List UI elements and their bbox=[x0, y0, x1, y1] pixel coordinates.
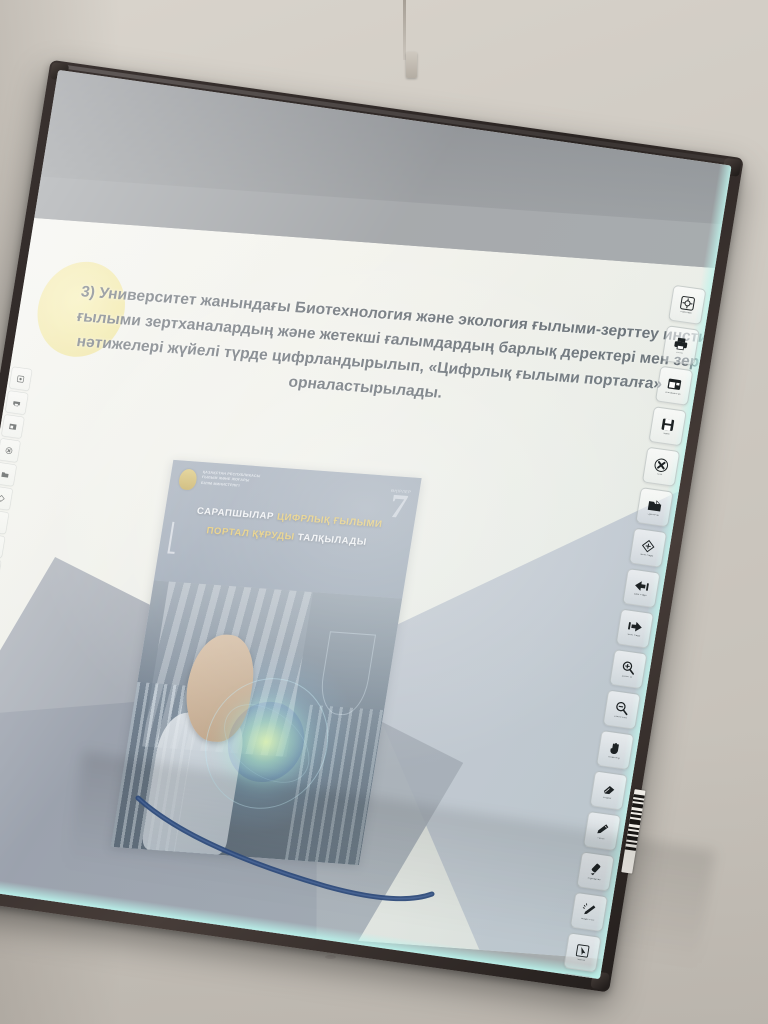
ministry-branding: ҚАЗАҚСТАН РЕСПУБЛИКАСЫ ҒЫЛЫМ ЖӘНЕ ЖОҒАРЫ… bbox=[178, 468, 261, 495]
news-headline: САРАПШЫЛАР ЦИФРЛЫҚ ҒЫЛЫМИ ПОРТАЛ ҚҰРУДЫ … bbox=[161, 499, 415, 556]
print-icon bbox=[672, 335, 689, 352]
hand-pan-icon bbox=[607, 740, 624, 757]
calibrate-icon bbox=[16, 374, 25, 383]
open-file-button[interactable]: OpenFile bbox=[635, 487, 673, 527]
keyboard-button[interactable]: Keyboard bbox=[557, 973, 595, 979]
open-folder-icon bbox=[646, 497, 663, 514]
new-page-icon bbox=[0, 494, 6, 503]
window-mode-button[interactable]: Window/Full bbox=[655, 366, 693, 406]
toolbar-label: Roaming bbox=[608, 756, 620, 760]
exit-icon bbox=[4, 446, 13, 455]
exit-icon bbox=[653, 456, 670, 473]
calibrate-button-left[interactable] bbox=[9, 366, 33, 391]
zoom-in-button[interactable]: Zoom In bbox=[609, 649, 647, 689]
next-page-icon bbox=[626, 619, 645, 635]
window-mode-icon bbox=[666, 375, 683, 392]
toolbar-label: Select bbox=[577, 958, 585, 962]
last-page-button[interactable]: Last Page bbox=[622, 568, 660, 608]
next-page-button[interactable]: Next Page bbox=[616, 609, 654, 649]
toolbar-label: Print bbox=[676, 351, 682, 355]
print-icon bbox=[12, 398, 21, 407]
zoom-out-icon bbox=[613, 699, 630, 716]
save-button[interactable]: Save bbox=[648, 406, 686, 446]
save-icon bbox=[659, 416, 676, 433]
toolbar-label: Zoom Out bbox=[614, 715, 627, 719]
toolbar-label: Exit bbox=[657, 473, 662, 476]
calibrate-button[interactable]: Calibrate bbox=[668, 285, 706, 325]
slide-body-text: 3) Университет жанындағы Биотехнология ж… bbox=[67, 279, 676, 422]
toolbar-label: Next Page bbox=[627, 634, 641, 639]
eraser-button[interactable]: Eraser bbox=[589, 770, 627, 810]
last-page-icon bbox=[632, 578, 651, 594]
exit-button-left[interactable] bbox=[0, 438, 21, 463]
toolbar-label: OpenFile bbox=[647, 513, 659, 517]
wall-seam bbox=[403, 0, 406, 60]
exit-button[interactable]: Exit bbox=[642, 447, 680, 487]
toolbar-label: Calibrate bbox=[680, 311, 692, 315]
zoom-in-icon bbox=[620, 659, 637, 676]
new-page-button[interactable]: New Page bbox=[629, 528, 667, 568]
ministry-name: ҚАЗАҚСТАН РЕСПУБЛИКАСЫ ҒЫЛЫМ ЖӘНЕ ЖОҒАРЫ… bbox=[201, 470, 261, 490]
open-folder-icon bbox=[1, 470, 10, 479]
news-header: ҚАЗАҚСТАН РЕСПУБЛИКАСЫ ҒЫЛЫМ ЖӘНЕ ЖОҒАРЫ… bbox=[154, 460, 422, 599]
window-mode-icon bbox=[8, 422, 17, 431]
roaming-button[interactable]: Roaming bbox=[596, 730, 634, 770]
window-mode-button-left[interactable] bbox=[1, 414, 25, 439]
last-page-icon bbox=[0, 518, 2, 527]
toolbar-label: New Page bbox=[640, 553, 654, 558]
toolbar-label: Zoom In bbox=[622, 675, 633, 679]
print-button-left[interactable] bbox=[5, 390, 29, 415]
headline-word-white: САРАПШЫЛАР bbox=[196, 506, 275, 523]
toolbar-label: Last Page bbox=[634, 593, 647, 598]
wall-mount-clip bbox=[406, 52, 417, 78]
toolbar-label: Save bbox=[663, 432, 670, 436]
headline-word-white: ТАЛҚЫЛАДЫ bbox=[297, 533, 368, 549]
classroom-photo-scene: 3) Университет жанындағы Биотехнология ж… bbox=[0, 0, 768, 1024]
photo-flask bbox=[316, 631, 376, 716]
new-page-icon bbox=[640, 537, 657, 554]
print-button[interactable]: Print bbox=[662, 325, 700, 365]
calibrate-icon bbox=[679, 295, 696, 312]
headline-word-gold: ПОРТАЛ ҚҰРУДЫ bbox=[206, 526, 296, 543]
zoom-out-button[interactable]: Zoom Out bbox=[603, 689, 641, 729]
toolbar-label: Eraser bbox=[603, 796, 612, 800]
state-emblem-icon bbox=[178, 468, 198, 490]
eraser-icon bbox=[600, 780, 618, 797]
